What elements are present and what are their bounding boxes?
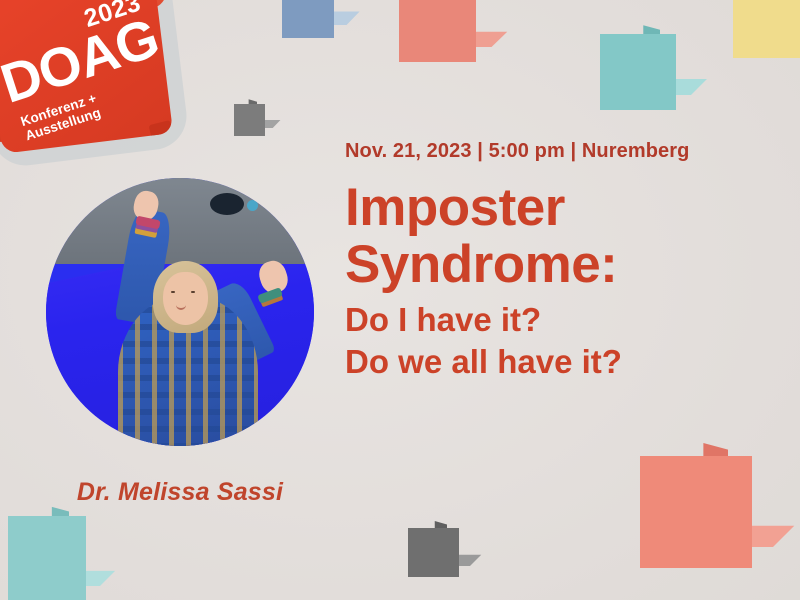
photo-ceiling <box>46 178 314 264</box>
cube-face-front <box>600 34 676 110</box>
photo-eye-left <box>171 291 175 294</box>
cube-salmon-bottomright <box>640 456 752 568</box>
cube-face-front <box>399 0 476 62</box>
cube-salmon-top <box>399 0 476 62</box>
speaker-photo <box>46 178 314 446</box>
cube-face-front <box>8 516 86 600</box>
promo-slide: 2023 DOAG Konferenz + Ausstellung Dr. Me… <box>0 0 800 600</box>
cube-face-front <box>234 104 265 136</box>
doag-logo: 2023 DOAG Konferenz + Ausstellung <box>0 0 208 185</box>
session-title-line-1: Imposter <box>345 179 775 236</box>
session-subtitle-line-1: Do I have it? <box>345 299 775 341</box>
text-column: Nov. 21, 2023 | 5:00 pm | Nuremberg Impo… <box>345 140 775 383</box>
cube-face-front <box>282 0 334 38</box>
cube-blue-top <box>282 0 334 38</box>
cube-gray-small <box>234 104 265 136</box>
speaker-name: Dr. Melissa Sassi <box>46 478 314 507</box>
session-subtitle: Do I have it? Do we all have it? <box>345 299 775 383</box>
logo-cube-front: 2023 DOAG Konferenz + Ausstellung <box>0 0 173 154</box>
photo-face <box>163 272 209 326</box>
cube-face-front <box>408 528 459 577</box>
cube-teal-bottomleft <box>8 516 86 600</box>
session-subtitle-line-2: Do we all have it? <box>345 341 775 383</box>
session-title: Imposter Syndrome: <box>345 179 775 293</box>
logo-text-group: 2023 DOAG Konferenz + Ausstellung <box>0 0 173 154</box>
cube-yellow-corner <box>733 0 800 58</box>
cube-teal-topright <box>600 34 676 110</box>
cube-face-front <box>733 0 800 58</box>
session-title-line-2: Syndrome: <box>345 236 775 293</box>
cube-gray-bottom <box>408 528 459 577</box>
cube-face-front <box>640 456 752 568</box>
event-details: Nov. 21, 2023 | 5:00 pm | Nuremberg <box>345 140 775 163</box>
photo-eye-right <box>191 291 195 294</box>
